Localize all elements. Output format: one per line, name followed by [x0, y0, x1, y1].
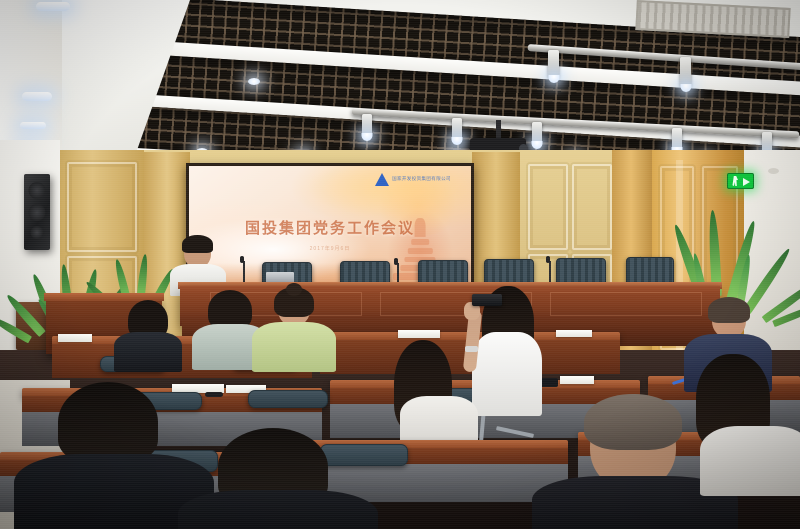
downlight-icon: [20, 122, 46, 129]
wall-trim-panel: [572, 164, 612, 250]
torso: [114, 332, 182, 372]
torso: [472, 332, 542, 416]
screen-logo: 国家开发投资集团有限公司: [375, 173, 451, 186]
conference-room-photo: 国家开发投资集团有限公司 国投集团党务工作会议 2017年9月6日: [0, 0, 800, 529]
attendee-foreground-center: [188, 428, 368, 529]
eyeglasses-on-desk: [205, 392, 223, 397]
paper-on-desk: [58, 334, 92, 342]
screen-logo-text: 国家开发投资集团有限公司: [392, 176, 451, 182]
track-spotlight-icon: [548, 50, 559, 78]
table-trim: [550, 292, 702, 316]
hair: [584, 394, 682, 450]
speaker-cone-icon: [29, 204, 46, 221]
wall-speaker: [24, 174, 50, 250]
downlight-icon: [248, 78, 260, 85]
track-spotlight-icon: [452, 118, 462, 140]
attendee-dark-jacket-row1: [110, 304, 186, 368]
attendee-white-top-row2: [388, 352, 480, 444]
wall-trim-panel: [528, 164, 568, 250]
ceiling: [0, 0, 800, 170]
track-spotlight-icon: [362, 114, 372, 136]
projector-mount-pole: [496, 120, 501, 140]
exit-arrow-icon: [743, 178, 750, 186]
track-spotlight-icon: [672, 128, 682, 150]
torso: [700, 426, 800, 496]
downlight-icon: [36, 2, 70, 11]
torso: [252, 322, 336, 372]
blue-triangle-logo-icon: [375, 173, 389, 186]
attendee-dark-shirt-foreground-left: [24, 382, 200, 529]
paper-on-desk: [556, 330, 592, 337]
track-spotlight-icon: [680, 57, 691, 87]
hair: [182, 235, 213, 253]
attendee-green-cardigan-row1: [252, 290, 336, 370]
paper-on-desk: [398, 330, 440, 338]
speaker-cone-icon: [31, 226, 44, 239]
torso: [178, 490, 378, 529]
exit-sign: [727, 173, 754, 189]
paper-on-desk: [560, 376, 594, 384]
wall-trim-panel: [67, 162, 137, 252]
smoke-detector-icon: [768, 168, 779, 174]
hair: [708, 297, 750, 323]
attendee-foreground-far-right: [700, 370, 800, 490]
hair: [58, 382, 158, 462]
screen-title: 国投集团党务工作会议: [189, 217, 471, 238]
chair-row2: [248, 390, 328, 408]
smartphone: [472, 294, 502, 306]
track-spotlight-icon: [532, 122, 542, 144]
hair-bun: [286, 283, 302, 296]
running-man-exit-icon: [732, 176, 738, 186]
downlight-icon: [22, 92, 52, 101]
speaker-cone-icon: [29, 182, 46, 199]
